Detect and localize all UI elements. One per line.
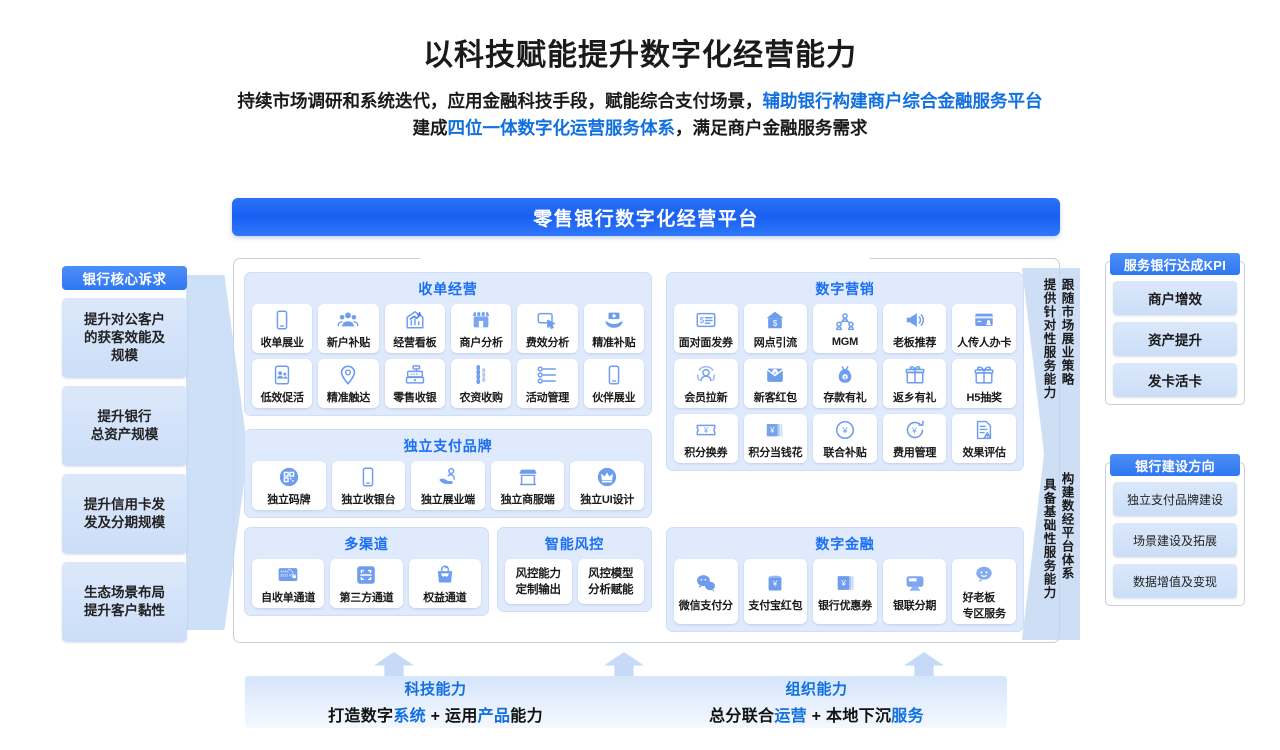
demand-2-line-0: 提升信用卡发 bbox=[84, 496, 165, 514]
demand-item-1: 提升银行 总资产规模 bbox=[62, 386, 187, 466]
demand-0-line-2: 规模 bbox=[84, 347, 165, 365]
tile-acquiring-0-0[interactable]: 收单展业 bbox=[252, 304, 312, 353]
tile-label: 费用管理 bbox=[893, 444, 936, 460]
tile-label: 精准触达 bbox=[327, 389, 370, 405]
wechat-icon bbox=[695, 571, 717, 595]
kpi-panel-header: 服务银行达成KPI bbox=[1110, 253, 1240, 275]
group-people-icon bbox=[337, 308, 359, 332]
tile-label: 独立收银台 bbox=[341, 491, 395, 507]
tile-acquiring-1-1[interactable]: 精准触达 bbox=[318, 359, 378, 408]
svg-text:¥: ¥ bbox=[840, 579, 846, 588]
demand-3-line-0: 生态场景布局 bbox=[84, 584, 165, 602]
tile-label: 存款有礼 bbox=[823, 389, 866, 405]
svg-text:$: $ bbox=[699, 316, 704, 325]
capability-part-3: 产品 bbox=[478, 708, 511, 725]
tile-label: 经营看板 bbox=[393, 334, 436, 350]
demand-item-2: 提升信用卡发 发及分期规模 bbox=[62, 474, 187, 554]
group-acquiring: 收单经营收单展业新户补贴经营看板商户分析费效分析精准补贴低效促活精准触达零售收银… bbox=[244, 272, 652, 416]
tile-marketing-1-3[interactable]: 返乡有礼 bbox=[883, 359, 947, 408]
credit-card-user-icon bbox=[973, 308, 995, 332]
tile-marketing-0-3[interactable]: 老板推荐 bbox=[883, 304, 947, 353]
gift-icon bbox=[904, 363, 926, 387]
bank-voucher-icon: ¥ bbox=[834, 571, 856, 595]
tile-label: 会员拉新 bbox=[684, 389, 727, 405]
demand-1-line-1: 总资产规模 bbox=[91, 426, 159, 444]
tile-marketing-0-4[interactable]: 人传人办卡 bbox=[952, 304, 1016, 353]
left-panel-header: 银行核心诉求 bbox=[62, 266, 187, 290]
refresh-yen-icon: ¥ bbox=[904, 418, 926, 442]
capability-part-1: 系统 bbox=[393, 708, 426, 725]
direction-panel-header: 银行建设方向 bbox=[1110, 454, 1240, 476]
tile-label: 自收单通道 bbox=[261, 589, 315, 605]
tile-row: 会员拉新¥新客红包$存款有礼返乡有礼H5抽奖 bbox=[674, 359, 1016, 408]
svg-text:¥: ¥ bbox=[841, 426, 848, 436]
tile-row: BANK8123 4567 8901自收单通道第三方通道权益通道 bbox=[252, 559, 481, 608]
mobile-icon bbox=[357, 465, 379, 489]
tile-label: H5抽奖 bbox=[967, 389, 1002, 405]
tile-acquiring-1-3[interactable]: 农资收购 bbox=[451, 359, 511, 408]
direction-item-2: 数据增值及变现 bbox=[1113, 564, 1237, 598]
svg-text:¥: ¥ bbox=[774, 370, 777, 376]
tile-finance-0-1[interactable]: ¥支付宝红包 bbox=[744, 559, 808, 624]
tile-label: 收单展业 bbox=[261, 334, 304, 350]
page-title: 以科技赋能提升数字化经营能力 bbox=[0, 30, 1280, 74]
kpi-item-2: 发卡活卡 bbox=[1113, 363, 1237, 397]
tile-acquiring-1-2[interactable]: 零售收银 bbox=[385, 359, 445, 408]
tile-marketing-2-4[interactable]: 效果评估 bbox=[952, 414, 1016, 463]
report-alert-icon bbox=[973, 418, 995, 442]
svg-text:¥: ¥ bbox=[704, 426, 709, 435]
tile-label: 银联分期 bbox=[893, 597, 936, 613]
coupon-icon: $ bbox=[695, 308, 717, 332]
alipay-yen-icon: ¥ bbox=[764, 571, 786, 595]
bank-house-icon: $ bbox=[764, 308, 786, 332]
capability-part-0: 打造数字 bbox=[328, 708, 393, 725]
capability-part-2: + 本地下沉 bbox=[807, 708, 891, 725]
subtitle-line-2: 建成四位一体数字化运营服务体系，满足商户金融服务需求 bbox=[0, 115, 1280, 142]
tile-label: 微信支付分 bbox=[679, 597, 733, 613]
tile-marketing-0-1[interactable]: $网点引流 bbox=[744, 304, 808, 353]
demand-3-line-1: 提升客户黏性 bbox=[84, 602, 165, 620]
tile-row: 风控能力定制输出风控模型分析赋能 bbox=[505, 559, 644, 604]
tile-label: 费效分析 bbox=[526, 334, 569, 350]
tile-label: 零售收银 bbox=[393, 389, 436, 405]
demand-0-line-1: 的获客效能及 bbox=[84, 329, 165, 347]
tile-acquiring-0-5[interactable]: 精准补贴 bbox=[584, 304, 644, 353]
tile-label: 好老板专区服务 bbox=[963, 589, 1006, 621]
hand-person-icon bbox=[437, 465, 459, 489]
tile-row: $面对面发券$网点引流MGM老板推荐人传人办卡 bbox=[674, 304, 1016, 353]
demand-1-line-0: 提升银行 bbox=[91, 408, 159, 426]
mobile-icon bbox=[603, 363, 625, 387]
tile-finance-0-4[interactable]: 好老板专区服务 bbox=[952, 559, 1016, 624]
tile-channel-0-1[interactable]: 第三方通道 bbox=[330, 559, 402, 608]
hand-money-icon bbox=[603, 308, 625, 332]
vertical-label-basic: 具备基础性服务能力 bbox=[1042, 478, 1055, 600]
demand-item-3: 生态场景布局 提升客户黏性 bbox=[62, 562, 187, 642]
subtitle-line-2-b: ，满足商户金融服务需求 bbox=[675, 118, 868, 138]
tile-label: 独立UI设计 bbox=[580, 491, 634, 507]
svg-text:¥: ¥ bbox=[770, 426, 775, 435]
qr-code-icon bbox=[278, 465, 300, 489]
chart-up-icon bbox=[404, 308, 426, 332]
tile-label: 风控能力定制输出 bbox=[516, 567, 561, 598]
tile-channel-0-2[interactable]: 权益通道 bbox=[409, 559, 481, 608]
capability-org: 组织能力 总分联合运营 + 本地下沉服务 bbox=[626, 676, 1007, 728]
storefront-icon bbox=[470, 308, 492, 332]
tile-finance-0-0[interactable]: 微信支付分 bbox=[674, 559, 738, 624]
tile-label: 支付宝红包 bbox=[748, 597, 802, 613]
subtitle-line-2-highlight: 四位一体数字化运营服务体系 bbox=[448, 118, 676, 138]
capability-tech: 科技能力 打造数字系统 + 运用产品能力 bbox=[245, 676, 626, 728]
demand-item-0: 提升对公客户 的获客效能及 规模 bbox=[62, 298, 187, 378]
boss-service-icon bbox=[973, 563, 995, 587]
bank-card-icon: BANK8123 4567 8901 bbox=[277, 563, 299, 587]
tile-brand-0-1[interactable]: 独立收银台 bbox=[332, 461, 406, 510]
capability-part-0: 总分联合 bbox=[709, 708, 774, 725]
tile-acquiring-0-2[interactable]: 经营看板 bbox=[385, 304, 445, 353]
crown-circle-icon bbox=[596, 465, 618, 489]
sliders-icon bbox=[536, 363, 558, 387]
gift-box-icon bbox=[973, 363, 995, 387]
subtitle-line-1-highlight: 辅助银行构建商户综合金融服务平台 bbox=[763, 91, 1043, 111]
bank-core-demands-panel: 银行核心诉求 提升对公客户 的获客效能及 规模 提升银行 总资产规模 提升信用卡… bbox=[62, 266, 187, 642]
unionpay-icon bbox=[904, 571, 926, 595]
location-pin-icon bbox=[337, 363, 359, 387]
tile-marketing-1-1[interactable]: ¥新客红包 bbox=[744, 359, 808, 408]
red-envelope-icon: ¥ bbox=[764, 363, 786, 387]
tile-marketing-0-2[interactable]: MGM bbox=[813, 304, 877, 353]
tile-marketing-2-1[interactable]: ¥积分当钱花 bbox=[744, 414, 808, 463]
svg-text:¥: ¥ bbox=[773, 580, 778, 589]
demand-2-line-1: 发及分期规模 bbox=[84, 514, 165, 532]
tile-marketing-2-3[interactable]: ¥费用管理 bbox=[883, 414, 947, 463]
tile-label: 面对面发券 bbox=[679, 334, 733, 350]
group-risk: 智能风控风控能力定制输出风控模型分析赋能 bbox=[497, 527, 652, 612]
subtitle-line-1-plain: 持续市场调研和系统迭代，应用金融科技手段，赋能综合支付场景， bbox=[238, 91, 763, 111]
tile-label: 商户分析 bbox=[460, 334, 503, 350]
svg-text:$: $ bbox=[773, 319, 778, 328]
platform-title-bar: 零售银行数字化经营平台 bbox=[232, 198, 1060, 236]
tile-brand-0-2[interactable]: 独立展业端 bbox=[411, 461, 485, 510]
capability-part-3: 服务 bbox=[891, 708, 924, 725]
tile-label: 权益通道 bbox=[423, 589, 466, 605]
svg-text:¥: ¥ bbox=[911, 426, 917, 436]
group-finance: 数字金融微信支付分¥支付宝红包¥银行优惠券银联分期好老板专区服务 bbox=[666, 527, 1024, 632]
tile-risk-0-0[interactable]: 风控能力定制输出 bbox=[505, 559, 572, 604]
tile-label: 独立商服端 bbox=[501, 491, 555, 507]
tile-marketing-0-0[interactable]: $面对面发券 bbox=[674, 304, 738, 353]
kpi-panel: 服务银行达成KPI 商户增效 资产提升 发卡活卡 bbox=[1105, 261, 1245, 405]
benefit-bag-icon bbox=[434, 563, 456, 587]
tile-row: 独立码牌独立收银台独立展业端独立商服端独立UI设计 bbox=[252, 461, 644, 510]
tile-label: 老板推荐 bbox=[893, 334, 936, 350]
money-bag-icon: $ bbox=[834, 363, 856, 387]
tile-label: 积分换券 bbox=[684, 444, 727, 460]
tile-label: 新客红包 bbox=[754, 389, 797, 405]
shop-awning-icon bbox=[517, 465, 539, 489]
tile-row: ¥积分换券¥积分当钱花¥联合补贴¥费用管理效果评估 bbox=[674, 414, 1016, 463]
tile-label: MGM bbox=[832, 336, 858, 348]
wheat-icon bbox=[470, 363, 492, 387]
tile-label: 伙伴展业 bbox=[592, 389, 635, 405]
tile-label: 返乡有礼 bbox=[893, 389, 936, 405]
phone-icon bbox=[271, 308, 293, 332]
voucher-stack-icon: ¥ bbox=[764, 418, 786, 442]
svg-text:8123 4567 8901: 8123 4567 8901 bbox=[281, 573, 299, 577]
tile-label: 新户补贴 bbox=[327, 334, 370, 350]
tile-brand-0-3[interactable]: 独立商服端 bbox=[491, 461, 565, 510]
tile-label: 独立展业端 bbox=[421, 491, 475, 507]
group-title-marketing: 数字营销 bbox=[674, 279, 1016, 299]
tile-acquiring-1-0[interactable]: 低效促活 bbox=[252, 359, 312, 408]
member-icon bbox=[695, 363, 717, 387]
page-subtitle: 持续市场调研和系统迭代，应用金融科技手段，赋能综合支付场景，辅助银行构建商户综合… bbox=[0, 88, 1280, 142]
group-marketing: 数字营销$面对面发券$网点引流MGM老板推荐人传人办卡会员拉新¥新客红包$存款有… bbox=[666, 272, 1024, 471]
group-title-channel: 多渠道 bbox=[252, 534, 481, 554]
capability-band: 科技能力 打造数字系统 + 运用产品能力 组织能力 总分联合运营 + 本地下沉服… bbox=[245, 676, 1007, 728]
tile-label: 农资收购 bbox=[460, 389, 503, 405]
capability-part-1: 运营 bbox=[774, 708, 807, 725]
capability-tech-sub: 打造数字系统 + 运用产品能力 bbox=[328, 702, 543, 726]
megaphone-icon bbox=[904, 308, 926, 332]
tile-finance-0-3[interactable]: 银联分期 bbox=[883, 559, 947, 624]
capability-tech-head: 科技能力 bbox=[404, 678, 466, 699]
subtitle-line-2-a: 建成 bbox=[413, 118, 448, 138]
tile-marketing-2-0[interactable]: ¥积分换券 bbox=[674, 414, 738, 463]
direction-item-0: 独立支付品牌建设 bbox=[1113, 482, 1237, 516]
tile-label: 网点引流 bbox=[754, 334, 797, 350]
subtitle-line-1: 持续市场调研和系统迭代，应用金融科技手段，赋能综合支付场景，辅助银行构建商户综合… bbox=[0, 88, 1280, 115]
tile-label: 积分当钱花 bbox=[748, 444, 802, 460]
vertical-label-platform: 构建数经平台体系 bbox=[1060, 472, 1073, 580]
tile-label: 银行优惠券 bbox=[818, 597, 872, 613]
tile-acquiring-0-1[interactable]: 新户补贴 bbox=[318, 304, 378, 353]
group-brand: 独立支付品牌独立码牌独立收银台独立展业端独立商服端独立UI设计 bbox=[244, 429, 652, 518]
tile-marketing-1-4[interactable]: H5抽奖 bbox=[952, 359, 1016, 408]
tile-row: 收单展业新户补贴经营看板商户分析费效分析精准补贴 bbox=[252, 304, 644, 353]
scan-frame-icon bbox=[355, 563, 377, 587]
direction-item-1: 场景建设及拓展 bbox=[1113, 523, 1237, 557]
cash-register-icon bbox=[404, 363, 426, 387]
tile-label: 风控模型分析赋能 bbox=[588, 567, 633, 598]
tile-brand-0-0[interactable]: 独立码牌 bbox=[252, 461, 326, 510]
capability-org-head: 组织能力 bbox=[785, 678, 847, 699]
tile-label: 第三方通道 bbox=[339, 589, 393, 605]
kpi-item-0: 商户增效 bbox=[1113, 281, 1237, 315]
group-title-brand: 独立支付品牌 bbox=[252, 436, 644, 456]
click-screen-icon bbox=[536, 308, 558, 332]
tile-label: 独立码牌 bbox=[267, 491, 310, 507]
tile-label: 活动管理 bbox=[526, 389, 569, 405]
tile-acquiring-0-3[interactable]: 商户分析 bbox=[451, 304, 511, 353]
tile-acquiring-1-4[interactable]: 活动管理 bbox=[517, 359, 577, 408]
tile-label: 联合补贴 bbox=[823, 444, 866, 460]
ticket-yen-icon: ¥ bbox=[695, 418, 717, 442]
vertical-label-service: 提供针对性服务能力 bbox=[1042, 278, 1055, 400]
tile-marketing-1-0[interactable]: 会员拉新 bbox=[674, 359, 738, 408]
group-title-acquiring: 收单经营 bbox=[252, 279, 644, 299]
group-channel: 多渠道BANK8123 4567 8901自收单通道第三方通道权益通道 bbox=[244, 527, 489, 616]
tile-marketing-2-2[interactable]: ¥联合补贴 bbox=[813, 414, 877, 463]
vertical-label-market: 跟随市场展业策略 bbox=[1060, 278, 1073, 386]
capability-part-2: + 运用 bbox=[426, 708, 478, 725]
tile-row: 低效促活精准触达零售收银农资收购活动管理伙伴展业 bbox=[252, 359, 644, 408]
group-title-risk: 智能风控 bbox=[505, 534, 644, 554]
tile-finance-0-2[interactable]: ¥银行优惠券 bbox=[813, 559, 877, 624]
tile-label: 人传人办卡 bbox=[957, 334, 1011, 350]
tile-label: 低效促活 bbox=[261, 389, 304, 405]
yen-circle-icon: ¥ bbox=[834, 418, 856, 442]
kpi-item-1: 资产提升 bbox=[1113, 322, 1237, 356]
bank-direction-panel: 银行建设方向 独立支付品牌建设 场景建设及拓展 数据增值及变现 bbox=[1105, 462, 1245, 606]
tile-label: 效果评估 bbox=[963, 444, 1006, 460]
capability-org-sub: 总分联合运营 + 本地下沉服务 bbox=[709, 702, 924, 726]
tile-risk-0-1[interactable]: 风控模型分析赋能 bbox=[578, 559, 645, 604]
phone-users-icon bbox=[271, 363, 293, 387]
capability-part-4: 能力 bbox=[510, 708, 543, 725]
frame-notch bbox=[420, 252, 870, 266]
group-title-finance: 数字金融 bbox=[674, 534, 1016, 554]
tile-acquiring-0-4[interactable]: 费效分析 bbox=[517, 304, 577, 353]
referral-network-icon bbox=[834, 310, 856, 334]
tile-channel-0-0[interactable]: BANK8123 4567 8901自收单通道 bbox=[252, 559, 324, 608]
tile-label: 精准补贴 bbox=[592, 334, 635, 350]
tile-brand-0-4[interactable]: 独立UI设计 bbox=[570, 461, 644, 510]
tile-row: 微信支付分¥支付宝红包¥银行优惠券银联分期好老板专区服务 bbox=[674, 559, 1016, 624]
tile-marketing-1-2[interactable]: $存款有礼 bbox=[813, 359, 877, 408]
tile-acquiring-1-5[interactable]: 伙伴展业 bbox=[584, 359, 644, 408]
demand-0-line-0: 提升对公客户 bbox=[84, 311, 165, 329]
